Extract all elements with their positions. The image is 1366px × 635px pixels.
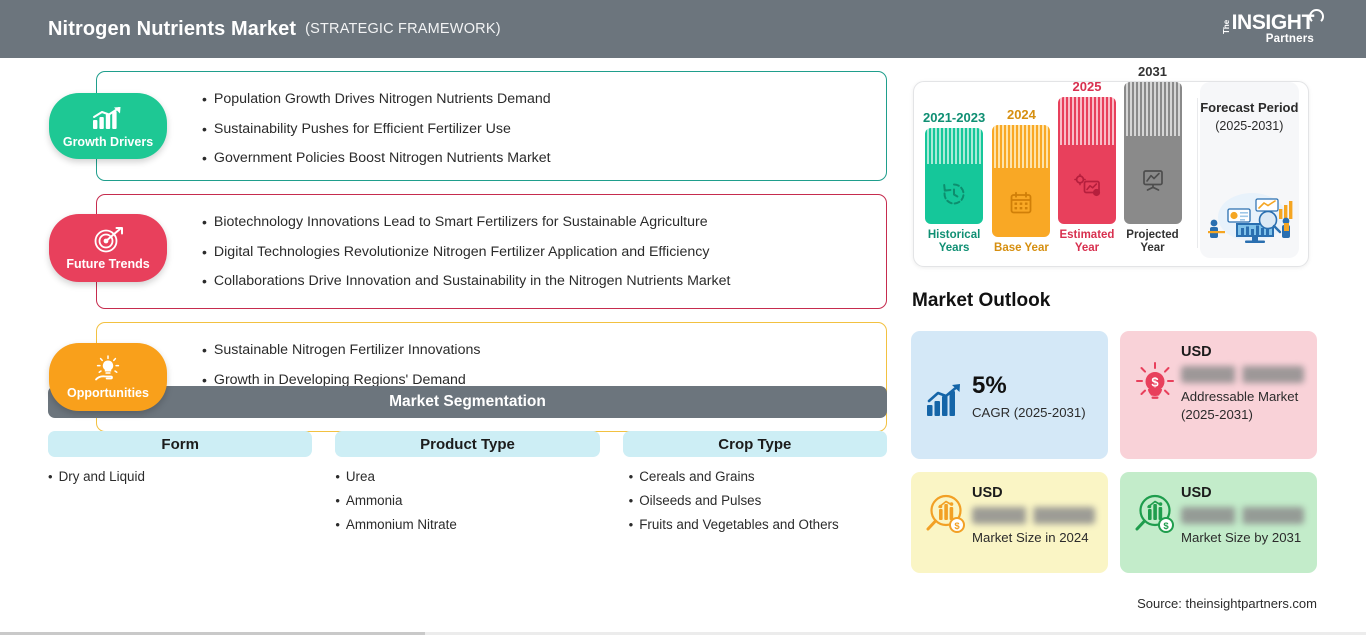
bullet-dot-icon: • bbox=[335, 517, 340, 532]
bullet-dot-icon: • bbox=[202, 122, 207, 137]
item-text: Cereals and Grains bbox=[639, 469, 754, 484]
bullet-dot-icon: • bbox=[629, 469, 634, 484]
segmentation-title: Market Segmentation bbox=[48, 386, 887, 418]
bullet-list-growth: •Population Growth Drives Nitrogen Nutri… bbox=[202, 92, 875, 181]
item-text: Oilseeds and Pulses bbox=[639, 493, 761, 508]
market-outlook-title: Market Outlook bbox=[912, 290, 1050, 312]
badge-label: Future Trends bbox=[66, 257, 149, 271]
card-label: Market Size by 2031 bbox=[1181, 529, 1306, 547]
bullet-dot-icon: • bbox=[202, 274, 207, 289]
section-future-trends: Future Trends •Biotechnology Innovations… bbox=[96, 194, 887, 309]
badge-future-trends[interactable]: Future Trends bbox=[49, 214, 167, 282]
market-outlook-cards: 5% CAGR (2025-2031) bbox=[911, 331, 1318, 586]
page-subtitle: (STRATEGIC FRAMEWORK) bbox=[305, 21, 501, 37]
bullet-dot-icon: • bbox=[202, 343, 207, 358]
bullet-list-trends: •Biotechnology Innovations Lead to Smart… bbox=[202, 215, 875, 304]
timeline-bar bbox=[925, 128, 983, 224]
badge-growth-drivers[interactable]: Growth Drivers bbox=[49, 93, 167, 159]
bar-chart-growth-icon bbox=[922, 371, 970, 419]
calendar-icon bbox=[1008, 190, 1034, 216]
bullet-text: Collaborations Drive Innovation and Sust… bbox=[214, 274, 731, 290]
timeline-item-base: 2024 Base Year bbox=[992, 107, 1051, 256]
item-text: Ammonium Nitrate bbox=[346, 517, 457, 532]
analytics-dashboard-illustration bbox=[1200, 187, 1298, 250]
projection-screen-icon bbox=[1140, 167, 1166, 193]
list-item: •Government Policies Boost Nitrogen Nutr… bbox=[202, 151, 875, 167]
growth-chart-arrow-icon bbox=[91, 104, 125, 131]
timeline-item-projected: 2031 Projected Year bbox=[1123, 64, 1182, 256]
list-item: •Ammonia bbox=[335, 493, 599, 508]
card-addressable-market: $ USD Addressable Market (2025-2031) bbox=[1120, 331, 1317, 459]
bullet-dot-icon: • bbox=[48, 469, 53, 484]
timeline-caption: Projected Year bbox=[1123, 229, 1182, 256]
bar-solid-body bbox=[992, 168, 1050, 237]
timeline-year: 2025 bbox=[1073, 79, 1102, 94]
timeline-year: 2024 bbox=[1007, 107, 1036, 122]
item-text: Ammonia bbox=[346, 493, 403, 508]
list-item: •Cereals and Grains bbox=[629, 469, 887, 484]
segmentation-column-form: Form •Dry and Liquid bbox=[48, 431, 312, 541]
target-dart-icon bbox=[92, 226, 124, 253]
svg-text:$: $ bbox=[954, 521, 960, 532]
forecast-settings-icon bbox=[1073, 172, 1101, 198]
badge-opportunities[interactable]: Opportunities bbox=[49, 343, 167, 411]
logo-top-row: The INSIGHT bbox=[1219, 12, 1314, 33]
card-label: Market Size in 2024 bbox=[972, 529, 1097, 547]
bullet-text: Sustainability Pushes for Efficient Fert… bbox=[214, 122, 511, 138]
bullet-text: Government Policies Boost Nitrogen Nutri… bbox=[214, 151, 551, 167]
badge-label: Opportunities bbox=[67, 386, 149, 400]
bar-solid-body bbox=[925, 164, 983, 224]
logo-partners-text: Partners bbox=[1266, 34, 1314, 46]
list-item: •Digital Technologies Revolutionize Nitr… bbox=[202, 245, 875, 261]
badge-label: Growth Drivers bbox=[63, 135, 153, 149]
column-items: •Cereals and Grains •Oilseeds and Pulses… bbox=[629, 469, 887, 532]
timeline-caption: Base Year bbox=[994, 242, 1049, 256]
strategic-sections: Growth Drivers •Population Growth Drives… bbox=[0, 58, 900, 635]
magnifier-chart-dollar-icon: $ bbox=[1131, 485, 1179, 535]
bullet-dot-icon: • bbox=[335, 493, 340, 508]
card-row-bottom: $ USD Market Size in 2024 bbox=[911, 472, 1318, 573]
infographic-page: Nitrogen Nutrients Market (STRATEGIC FRA… bbox=[0, 0, 1366, 635]
currency-label: USD bbox=[972, 485, 1097, 501]
forecast-period-block: Forecast Period (2025-2031) bbox=[1200, 82, 1299, 258]
history-clock-icon bbox=[941, 181, 967, 207]
timeline-bar bbox=[1124, 82, 1182, 224]
column-items: •Dry and Liquid bbox=[48, 469, 312, 484]
bullet-text: Sustainable Nitrogen Fertilizer Innovati… bbox=[214, 343, 481, 359]
lightbulb-hand-icon bbox=[91, 355, 125, 382]
list-item: •Dry and Liquid bbox=[48, 469, 312, 484]
timeline-item-historical: 2021-2023 Historical Years bbox=[923, 110, 985, 256]
forecast-timeline-panel: 2021-2023 Historical Years 2024 bbox=[913, 81, 1309, 267]
list-item: •Biotechnology Innovations Lead to Smart… bbox=[202, 215, 875, 231]
list-item: •Sustainability Pushes for Efficient Fer… bbox=[202, 122, 875, 138]
timeline-year: 2031 bbox=[1138, 64, 1167, 79]
list-item: •Oilseeds and Pulses bbox=[629, 493, 887, 508]
bar-solid-body bbox=[1124, 136, 1182, 224]
section-growth-drivers: Growth Drivers •Population Growth Drives… bbox=[96, 71, 887, 181]
list-item: •Urea bbox=[335, 469, 599, 484]
magnifier-chart-dollar-icon: $ bbox=[922, 485, 970, 535]
bullet-text: Population Growth Drives Nitrogen Nutrie… bbox=[214, 92, 551, 108]
currency-label: USD bbox=[1181, 344, 1306, 360]
bullet-dot-icon: • bbox=[335, 469, 340, 484]
redacted-value bbox=[972, 507, 1095, 524]
segmentation-column-product-type: Product Type •Urea •Ammonia •Ammonium Ni… bbox=[335, 431, 599, 541]
timeline-caption: Estimated Year bbox=[1058, 229, 1117, 256]
card-body: USD Market Size in 2024 bbox=[970, 485, 1097, 547]
card-market-size-2031: $ USD Market Size by 2031 bbox=[1120, 472, 1317, 573]
segmentation-columns: Form •Dry and Liquid Product Type •Urea … bbox=[48, 431, 887, 541]
forecast-period-range: (2025-2031) bbox=[1215, 119, 1283, 133]
logo-insight-text: INSIGHT bbox=[1232, 12, 1314, 33]
logo-the-text: The bbox=[1223, 17, 1232, 34]
card-body: 5% CAGR (2025-2031) bbox=[970, 370, 1097, 420]
page-header: Nitrogen Nutrients Market (STRATEGIC FRA… bbox=[0, 0, 1366, 58]
panel-divider bbox=[1197, 98, 1198, 248]
item-text: Dry and Liquid bbox=[59, 469, 145, 484]
card-cagr: 5% CAGR (2025-2031) bbox=[911, 331, 1108, 459]
column-header: Product Type bbox=[335, 431, 599, 457]
bar-stripe-top bbox=[925, 128, 983, 164]
timeline-caption: Historical Years bbox=[923, 229, 985, 256]
bar-stripe-top bbox=[1124, 82, 1182, 136]
currency-label: USD bbox=[1181, 485, 1306, 501]
market-segmentation: Market Segmentation Form •Dry and Liquid… bbox=[48, 386, 887, 541]
timeline-bar bbox=[1058, 97, 1116, 224]
svg-text:$: $ bbox=[1151, 375, 1159, 390]
card-body: USD Addressable Market (2025-2031) bbox=[1179, 344, 1306, 424]
timeline-item-estimated: 2025 Estimated Year bbox=[1058, 79, 1117, 256]
svg-text:$: $ bbox=[1163, 521, 1169, 532]
bar-stripe-top bbox=[992, 125, 1050, 168]
bullet-dot-icon: • bbox=[202, 215, 207, 230]
list-item: •Sustainable Nitrogen Fertilizer Innovat… bbox=[202, 343, 875, 359]
bar-solid-body bbox=[1058, 145, 1116, 224]
bar-stripe-top bbox=[1058, 97, 1116, 145]
page-title: Nitrogen Nutrients Market bbox=[48, 18, 296, 41]
timeline-year: 2021-2023 bbox=[923, 110, 985, 125]
list-item: •Fruits and Vegetables and Others bbox=[629, 517, 887, 532]
lightbulb-dollar-icon: $ bbox=[1131, 344, 1179, 404]
bullet-text: Biotechnology Innovations Lead to Smart … bbox=[214, 215, 708, 231]
list-item: •Ammonium Nitrate bbox=[335, 517, 599, 532]
card-market-size-2024: $ USD Market Size in 2024 bbox=[911, 472, 1108, 573]
card-row-top: 5% CAGR (2025-2031) bbox=[911, 331, 1318, 459]
bullet-dot-icon: • bbox=[629, 493, 634, 508]
segmentation-column-crop-type: Crop Type •Cereals and Grains •Oilseeds … bbox=[623, 431, 887, 541]
insight-partners-logo: The INSIGHT Partners bbox=[1188, 8, 1314, 50]
bullet-dot-icon: • bbox=[629, 517, 634, 532]
column-header: Crop Type bbox=[623, 431, 887, 457]
timeline-bar bbox=[992, 125, 1050, 237]
source-attribution: Source: theinsightpartners.com bbox=[1137, 596, 1317, 611]
item-text: Urea bbox=[346, 469, 375, 484]
column-items: •Urea •Ammonia •Ammonium Nitrate bbox=[335, 469, 599, 532]
forecast-period-title: Forecast Period bbox=[1200, 100, 1298, 117]
item-text: Fruits and Vegetables and Others bbox=[639, 517, 839, 532]
logo-circle-icon bbox=[1309, 9, 1324, 24]
cagr-value: 5% bbox=[972, 374, 1097, 398]
list-item: •Collaborations Drive Innovation and Sus… bbox=[202, 274, 875, 290]
bullet-dot-icon: • bbox=[202, 151, 207, 166]
bullet-dot-icon: • bbox=[202, 92, 207, 107]
card-label: Addressable Market (2025-2031) bbox=[1181, 388, 1306, 424]
card-body: USD Market Size by 2031 bbox=[1179, 485, 1306, 547]
redacted-value bbox=[1181, 366, 1304, 383]
list-item: •Population Growth Drives Nitrogen Nutri… bbox=[202, 92, 875, 108]
redacted-value bbox=[1181, 507, 1304, 524]
bullet-text: Digital Technologies Revolutionize Nitro… bbox=[214, 245, 710, 261]
bullet-dot-icon: • bbox=[202, 245, 207, 260]
column-header: Form bbox=[48, 431, 312, 457]
cagr-label: CAGR (2025-2031) bbox=[972, 405, 1097, 420]
